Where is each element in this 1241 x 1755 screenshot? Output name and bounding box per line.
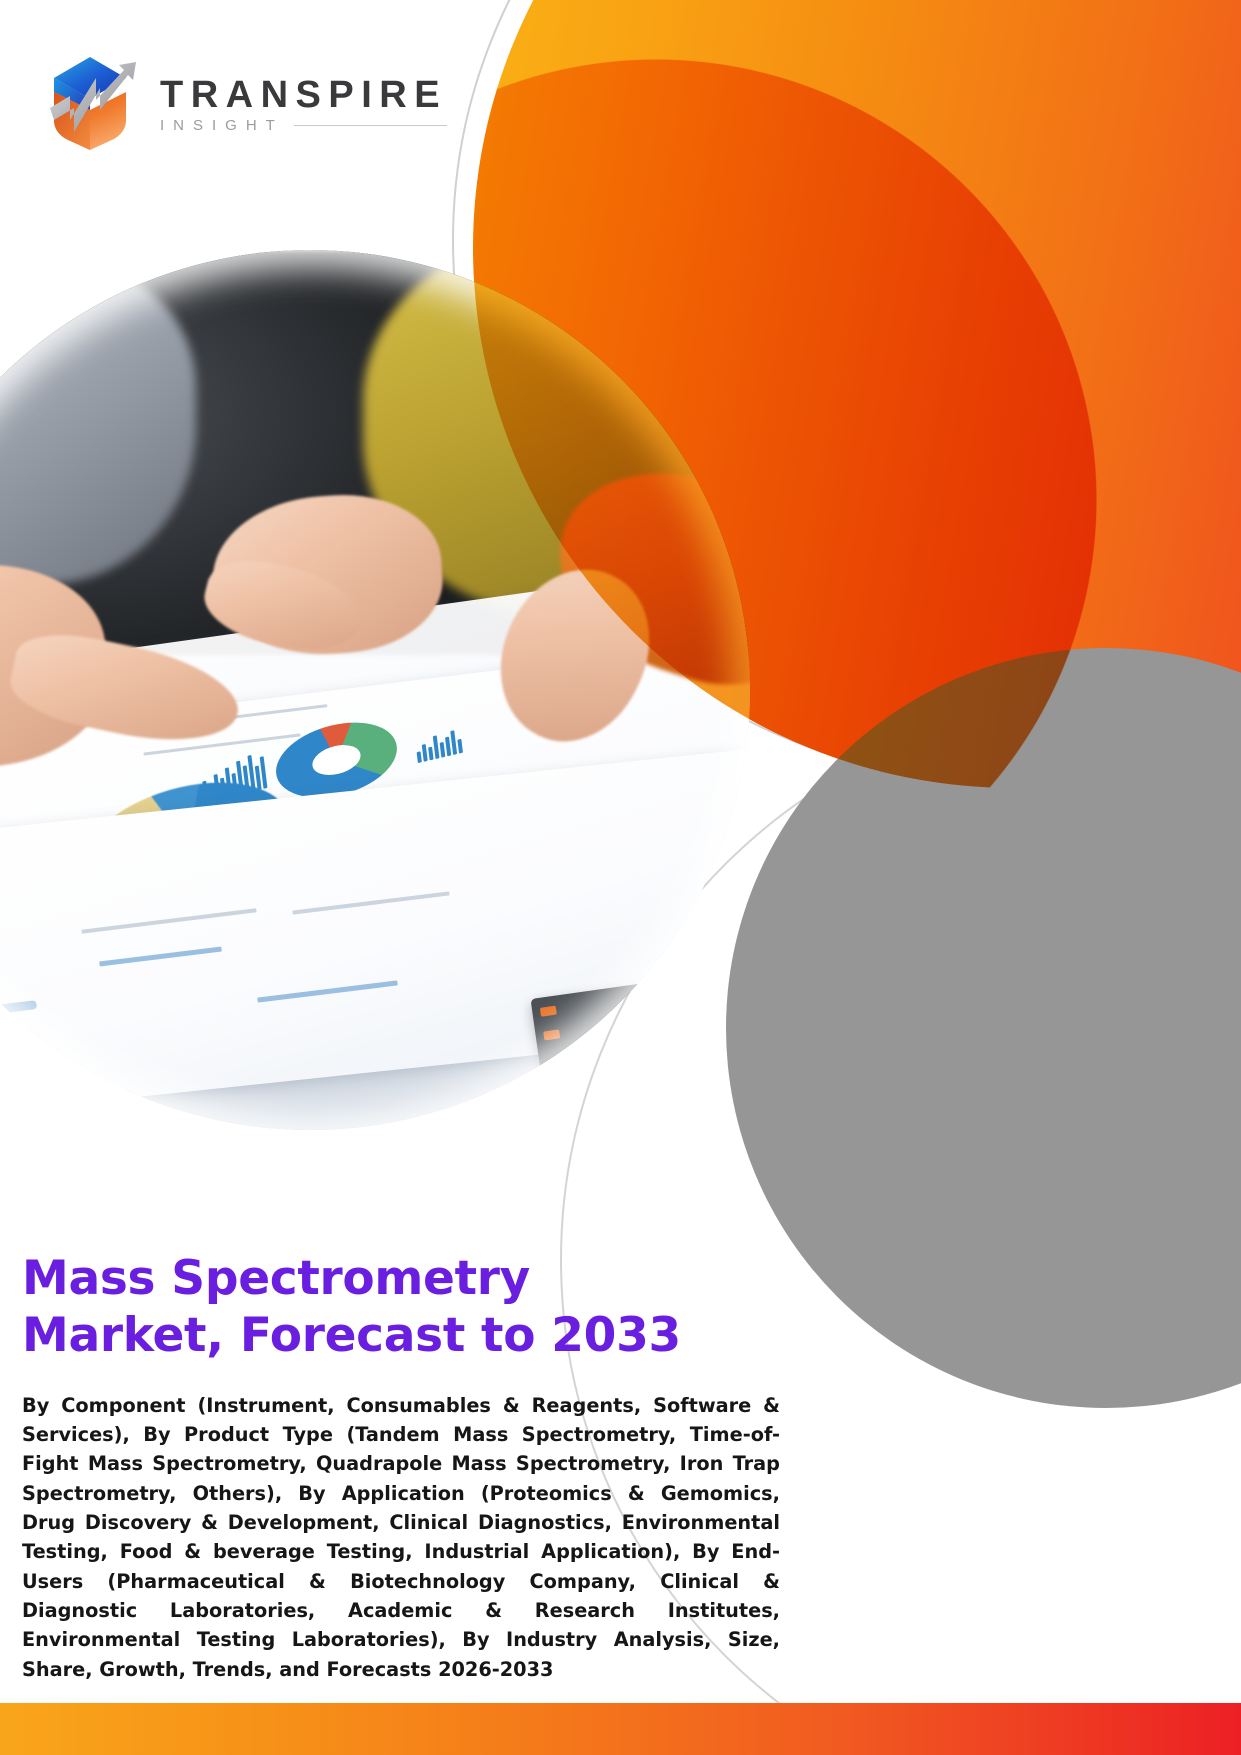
brand-tagline-row: INSIGHT: [160, 118, 447, 133]
brand-wordmark-group: TRANSPIRE INSIGHT: [160, 70, 447, 133]
report-cover-page: TRANSPIRE INSIGHT Mass Spectrometry Mark…: [0, 0, 1241, 1755]
brand-name: TRANSPIRE: [160, 76, 447, 114]
brand-tagline: INSIGHT: [160, 118, 284, 133]
bottom-gradient-bar: [0, 1703, 1241, 1755]
brand-tagline-rule: [294, 125, 447, 126]
brand-logo[interactable]: TRANSPIRE INSIGHT: [40, 48, 447, 154]
cover-title-block: Mass Spectrometry Market, Forecast to 20…: [22, 1250, 812, 1684]
transpire-cube-arrow-logo-icon: [40, 48, 144, 154]
report-title: Mass Spectrometry Market, Forecast to 20…: [22, 1250, 682, 1365]
report-subtitle: By Component (Instrument, Consumables & …: [22, 1391, 780, 1684]
